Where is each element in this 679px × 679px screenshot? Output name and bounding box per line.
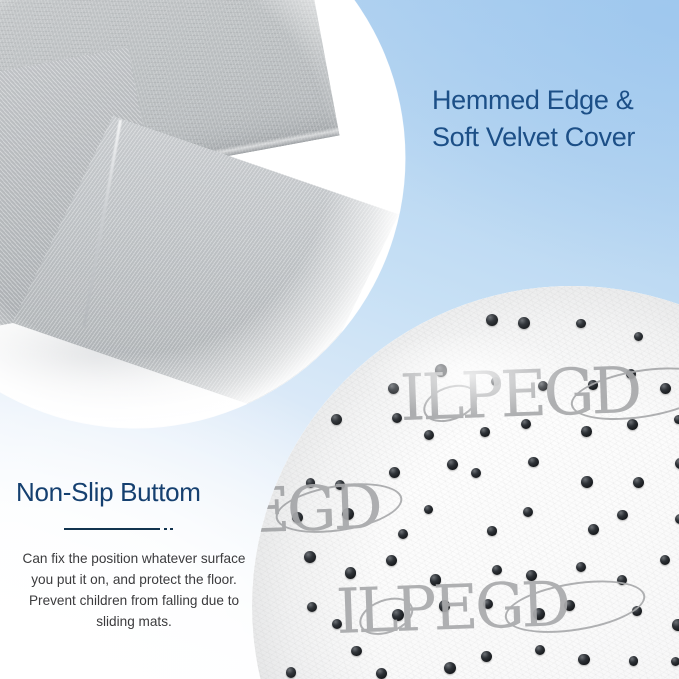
anti-slip-dot: [386, 555, 397, 566]
anti-slip-dot: [576, 562, 586, 572]
divider-dot: [170, 528, 173, 530]
headline-line-1: Hemmed Edge &: [432, 82, 679, 119]
anti-slip-dot: [672, 619, 679, 631]
anti-slip-dot: [581, 476, 593, 488]
feature-body-line: Can fix the position whatever surface: [10, 548, 258, 569]
feature-divider: [0, 519, 268, 541]
headline: Hemmed Edge & Soft Velvet Cover: [432, 82, 679, 155]
anti-slip-dot: [576, 319, 586, 329]
anti-slip-dot: [447, 459, 458, 470]
feature-block: Non-Slip Buttom Can fix the position wha…: [0, 478, 268, 632]
feature-title: Non-Slip Buttom: [0, 478, 268, 507]
anti-slip-dot: [617, 510, 627, 520]
feature-body-line: sliding mats.: [10, 611, 258, 632]
non-slip-mat-photo: ILPEGD EGD ILPEGD: [252, 286, 679, 679]
anti-slip-dot: [675, 514, 679, 524]
divider-dot: [164, 528, 167, 530]
anti-slip-dot: [518, 317, 530, 329]
anti-slip-dot: [634, 332, 643, 341]
brand-watermark-partial: EGD: [252, 470, 380, 548]
anti-slip-dot: [398, 529, 408, 539]
headline-line-2: Soft Velvet Cover: [432, 119, 679, 156]
anti-slip-dot: [487, 526, 496, 535]
anti-slip-dot: [388, 383, 399, 394]
divider-line: [64, 528, 160, 530]
anti-slip-dot: [471, 468, 481, 478]
anti-slip-dot: [304, 551, 316, 563]
product-feature-infographic: ILPEGD EGD ILPEGD Hemmed Edge & Soft Vel…: [0, 0, 679, 679]
anti-slip-dot: [578, 654, 590, 666]
anti-slip-dot: [671, 657, 679, 666]
anti-slip-dot: [675, 458, 679, 469]
feature-body: Can fix the position whatever surface yo…: [0, 548, 268, 633]
anti-slip-dot: [376, 668, 387, 679]
anti-slip-dot: [286, 667, 297, 678]
anti-slip-dot: [588, 524, 599, 535]
anti-slip-dot: [528, 457, 539, 468]
anti-slip-dot: [307, 602, 317, 612]
feature-body-line: Prevent children from falling due to: [10, 590, 258, 611]
brand-watermark: ILPEGD: [335, 567, 569, 648]
anti-slip-dot: [331, 414, 342, 425]
anti-slip-dot: [389, 467, 400, 478]
anti-slip-dot: [535, 645, 546, 656]
anti-slip-dot: [424, 505, 433, 514]
brand-watermark: ILPEGD: [399, 354, 640, 436]
anti-slip-dot: [523, 507, 533, 517]
anti-slip-dot: [481, 651, 492, 662]
anti-slip-dot: [444, 662, 456, 674]
anti-slip-dot: [633, 477, 644, 488]
anti-slip-dot: [629, 656, 639, 666]
anti-slip-dot: [674, 415, 679, 424]
anti-slip-dot: [486, 314, 498, 326]
anti-slip-dot: [660, 555, 670, 565]
feature-body-line: you put it on, and protect the floor.: [10, 569, 258, 590]
